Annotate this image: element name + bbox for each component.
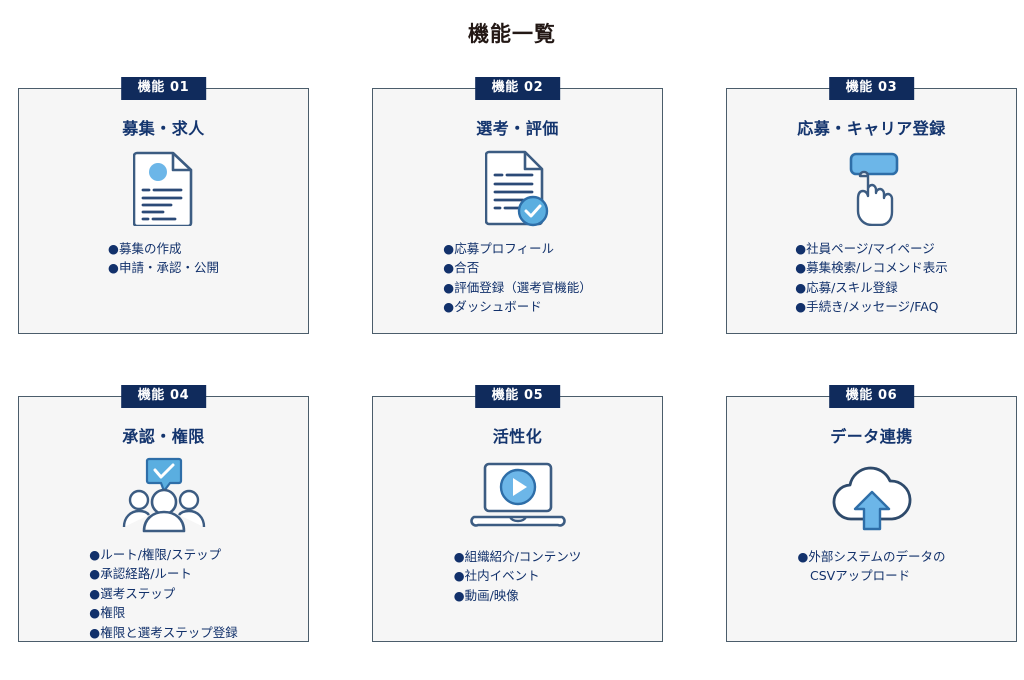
bullet-item: ●評価登録（選考官機能） <box>443 278 591 297</box>
card-badge-01: 機能 01 <box>121 77 207 100</box>
card-title-04: 承認・権限 <box>122 423 205 447</box>
bullet-item: ●動画/映像 <box>454 586 582 605</box>
card-bullets-01: ●募集の作成 ●申請・承認・公開 <box>19 239 308 278</box>
document-person-icon <box>133 149 195 227</box>
feature-card-01: 機能 01 募集・求人 <box>18 88 309 334</box>
bullet-item: ●応募プロフィール <box>443 239 591 258</box>
card-bullets-02: ●応募プロフィール ●合否 ●評価登録（選考官機能） ●ダッシュボード <box>373 239 662 317</box>
bullet-item: ●権限 <box>89 603 237 622</box>
card-bullets-06: ●外部システムのデータの CSVアップロード <box>727 547 1016 586</box>
document-check-icon <box>485 149 551 227</box>
bullet-item: ●社内イベント <box>454 566 582 585</box>
bullet-item: ●外部システムのデータの CSVアップロード <box>797 547 945 586</box>
feature-card-03: 機能 03 応募・キャリア登録 ●社員ページ/マイページ ●募集検索/レコメンド… <box>726 88 1017 334</box>
card-badge-05: 機能 05 <box>475 385 561 408</box>
card-badge-02: 機能 02 <box>475 77 561 100</box>
bullet-item: ●募集検索/レコメンド表示 <box>795 258 948 277</box>
card-badge-04: 機能 04 <box>121 385 207 408</box>
bullet-item: ●合否 <box>443 258 591 277</box>
feature-card-05: 機能 05 活性化 ●組織紹介/コンテンツ ●社内イベント ●動画/映像 <box>372 396 663 642</box>
page-title: 機能一覧 <box>0 18 1024 48</box>
bullet-item: ●ルート/権限/ステップ <box>89 545 237 564</box>
feature-card-04: 機能 04 承認・権限 ●ルート/権限/ステップ ●承認経路/ルート <box>18 396 309 642</box>
card-title-03: 応募・キャリア登録 <box>797 115 946 139</box>
card-title-06: データ連携 <box>830 423 913 447</box>
card-bullets-05: ●組織紹介/コンテンツ ●社内イベント ●動画/映像 <box>373 547 662 605</box>
bullet-item: ●手続き/メッセージ/FAQ <box>795 297 948 316</box>
card-badge-06: 機能 06 <box>829 385 915 408</box>
bullet-item: ●選考ステップ <box>89 584 237 603</box>
card-title-01: 募集・求人 <box>122 115 205 139</box>
cloud-upload-icon <box>826 457 918 535</box>
feature-card-06: 機能 06 データ連携 ●外部システムのデータの CSVアップロード <box>726 396 1017 642</box>
bullet-item: ●ダッシュボード <box>443 297 591 316</box>
feature-list-page: 機能一覧 機能 01 募集・求人 <box>0 0 1024 680</box>
card-title-02: 選考・評価 <box>476 115 559 139</box>
card-badge-03: 機能 03 <box>829 77 915 100</box>
card-bullets-04: ●ルート/権限/ステップ ●承認経路/ルート ●選考ステップ ●権限 ●権限と選… <box>19 545 308 642</box>
feature-card-02: 機能 02 選考・評価 <box>372 88 663 334</box>
laptop-play-icon <box>470 457 566 535</box>
people-approval-icon <box>122 457 206 533</box>
hand-click-button-icon <box>835 149 909 227</box>
bullet-item: ●応募/スキル登録 <box>795 278 948 297</box>
card-bullets-03: ●社員ページ/マイページ ●募集検索/レコメンド表示 ●応募/スキル登録 ●手続… <box>727 239 1016 317</box>
card-title-05: 活性化 <box>493 423 543 447</box>
bullet-item: ●組織紹介/コンテンツ <box>454 547 582 566</box>
bullet-item: ●権限と選考ステップ登録 <box>89 623 237 642</box>
feature-card-grid: 機能 01 募集・求人 <box>18 88 1006 642</box>
bullet-item: ●承認経路/ルート <box>89 564 237 583</box>
bullet-item: ●募集の作成 <box>108 239 219 258</box>
bullet-item: ●社員ページ/マイページ <box>795 239 948 258</box>
bullet-item: ●申請・承認・公開 <box>108 258 219 277</box>
